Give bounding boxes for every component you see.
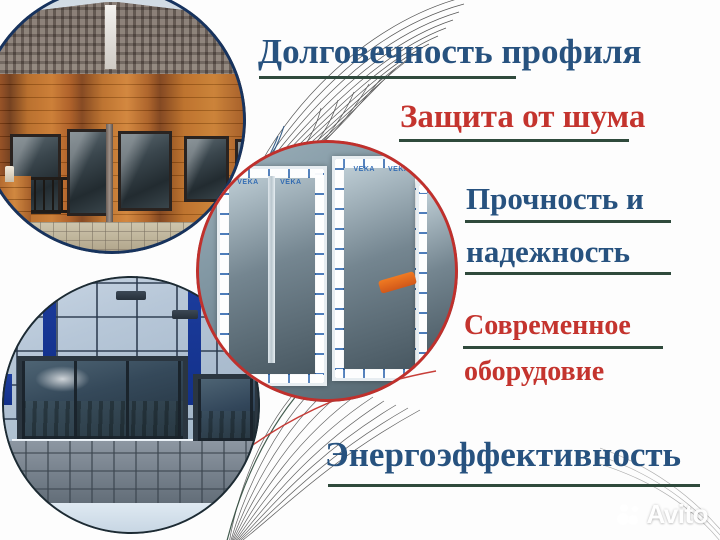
headline-rule bbox=[259, 76, 516, 79]
protective-film-strip bbox=[315, 170, 324, 382]
downspout bbox=[106, 124, 113, 227]
window-mullion bbox=[268, 176, 275, 363]
tiled-roof bbox=[0, 2, 246, 82]
window-pane bbox=[118, 131, 172, 211]
storefront-glazing bbox=[17, 356, 187, 444]
window-unit: VEKA VEKA bbox=[217, 166, 327, 386]
protective-film-strip bbox=[221, 374, 323, 383]
headline-reliability: надежность bbox=[466, 236, 630, 267]
avito-logo-icon bbox=[616, 503, 642, 527]
veka-brand-label: VEKA bbox=[353, 166, 374, 173]
protective-film-strip bbox=[336, 369, 422, 378]
corner-post bbox=[0, 176, 31, 224]
headline-rule bbox=[463, 346, 663, 349]
headline-rule bbox=[465, 272, 671, 275]
headline-rule bbox=[465, 220, 671, 223]
photo-veka-windows: VEKA VEKA VEKA VEKA bbox=[196, 140, 458, 402]
headline-modern: Современное bbox=[464, 312, 631, 340]
avito-logo-text: Avito bbox=[646, 499, 708, 530]
headline-strength: Прочность и bbox=[466, 183, 644, 214]
wall-vent bbox=[172, 310, 198, 319]
veka-brand-label: VEKA bbox=[388, 166, 409, 173]
headline-durability: Долговечность профиля bbox=[258, 34, 641, 69]
snow-ground bbox=[2, 503, 260, 534]
protective-film-strip bbox=[419, 186, 427, 361]
blue-accent-stripe bbox=[2, 374, 12, 405]
window-unit bbox=[416, 182, 458, 365]
window-unit: VEKA VEKA bbox=[332, 156, 426, 381]
veka-brand-label: VEKA bbox=[280, 179, 301, 186]
headline-rule bbox=[328, 484, 700, 487]
protective-film-strip bbox=[335, 160, 344, 377]
advertisement-banner: VEKA VEKA VEKA VEKA bbox=[0, 0, 720, 540]
protective-film-strip bbox=[220, 170, 229, 382]
glazing-mullions bbox=[22, 361, 182, 439]
protective-film-strip bbox=[420, 185, 458, 193]
headline-equipment: оборудовие bbox=[464, 358, 604, 386]
stone-base-cladding bbox=[2, 441, 260, 508]
protective-film-strip bbox=[336, 159, 422, 168]
glass-pane bbox=[427, 193, 458, 354]
avito-watermark: Avito bbox=[616, 499, 708, 530]
photo-veka-windows-image: VEKA VEKA VEKA VEKA bbox=[196, 140, 458, 402]
roof-ridge bbox=[105, 5, 116, 69]
headline-energy-efficiency: Энергоэффективность bbox=[325, 437, 681, 472]
wall-lamp bbox=[5, 166, 14, 182]
wall-vent bbox=[116, 291, 147, 300]
glass-pane bbox=[343, 167, 415, 370]
headline-noise-protection: Защита от шума bbox=[400, 101, 645, 134]
veka-brand-label: VEKA bbox=[237, 179, 258, 186]
